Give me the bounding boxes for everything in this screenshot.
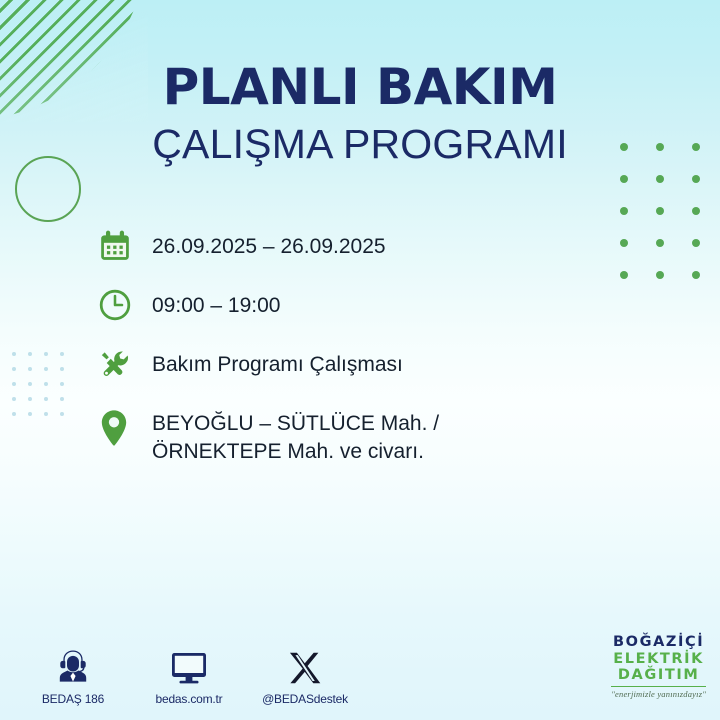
x-twitter-icon xyxy=(260,644,350,686)
poster-title-block: PLANLI BAKIM ÇALIŞMA PROGRAMI xyxy=(0,62,720,165)
maintenance-details-list: 26.09.2025 – 26.09.2025 09:00 – 19:00 xyxy=(98,228,658,465)
detail-row-work-type: Bakım Programı Çalışması xyxy=(98,346,658,385)
detail-row-time: 09:00 – 19:00 xyxy=(98,287,658,326)
circle-outline-decoration xyxy=(15,156,81,222)
detail-text-location: BEYOĞLU – SÜTLÜCE Mah. / ÖRNEKTEPE Mah. … xyxy=(140,405,439,465)
company-logo: BOĞAZİÇİ ELEKTRİK DAĞITIM "enerjimizle y… xyxy=(611,635,706,698)
calendar-icon xyxy=(98,225,140,267)
detail-text-work-type: Bakım Programı Çalışması xyxy=(140,346,403,379)
detail-row-location: BEYOĞLU – SÜTLÜCE Mah. / ÖRNEKTEPE Mah. … xyxy=(98,405,658,465)
contact-label-x-account: @BEDASdestek xyxy=(260,692,350,706)
detail-text-time: 09:00 – 19:00 xyxy=(140,287,280,320)
footer-contacts: BEDAŞ 186 bedas.com.tr @BEDASdestek xyxy=(28,644,350,706)
location-pin-icon xyxy=(98,407,140,449)
contact-x-account[interactable]: @BEDASdestek xyxy=(260,644,350,706)
detail-row-date: 26.09.2025 – 26.09.2025 xyxy=(98,228,658,267)
logo-divider xyxy=(611,686,706,687)
planned-maintenance-poster: PLANLI BAKIM ÇALIŞMA PROGRAMI xyxy=(0,0,720,720)
logo-line-dagitim: DAĞITIM xyxy=(611,668,706,683)
logo-tagline: "enerjimizle yanınızdayız" xyxy=(611,690,706,699)
monitor-icon xyxy=(144,644,234,686)
detail-text-date: 26.09.2025 – 26.09.2025 xyxy=(140,228,386,261)
support-agent-icon xyxy=(28,644,118,686)
tools-icon xyxy=(98,343,140,385)
contact-label-website: bedas.com.tr xyxy=(144,692,234,706)
contact-website[interactable]: bedas.com.tr xyxy=(144,644,234,706)
contact-call-center[interactable]: BEDAŞ 186 xyxy=(28,644,118,706)
contact-label-call-center: BEDAŞ 186 xyxy=(28,692,118,706)
page-subtitle: ÇALIŞMA PROGRAMI xyxy=(0,124,720,165)
page-title: PLANLI BAKIM xyxy=(0,62,720,112)
logo-line-elektrik: ELEKTRİK xyxy=(611,652,706,667)
logo-line-bogazici: BOĞAZİÇİ xyxy=(611,635,706,650)
dot-grid-left-decoration xyxy=(12,352,76,427)
clock-icon xyxy=(98,284,140,326)
